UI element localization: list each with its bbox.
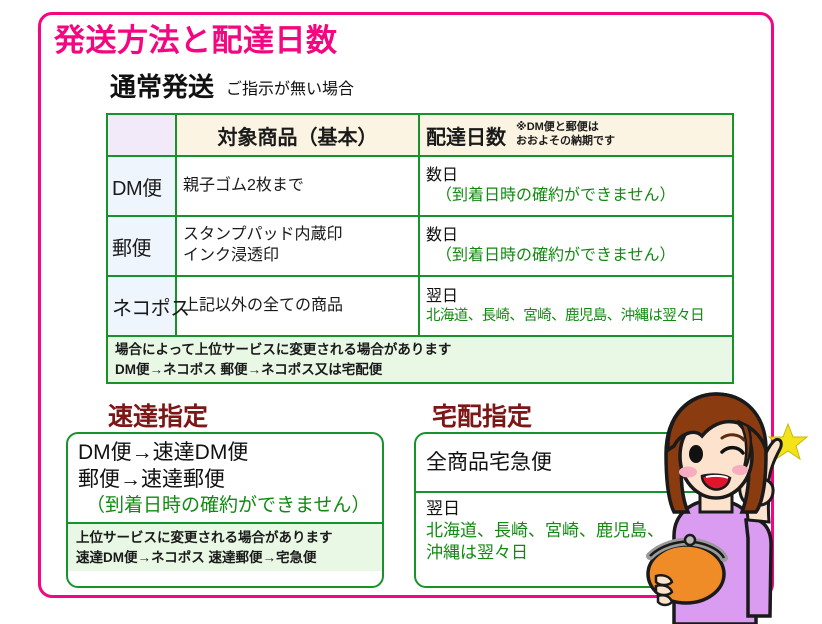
row-days-main: 翌日 — [426, 287, 726, 307]
shipping-methods-table: 対象商品（基本） 配達日数 ※DM便と郵便は おおよその納期です — [106, 113, 734, 384]
row-target-cell: スタンプパッド内蔵印 インク浸透印 — [176, 216, 419, 276]
express-section-panel: DM便→速達DM便 郵便→速達郵便 （到着日時の確約ができません） 上位サービス… — [66, 432, 384, 588]
express-line-1: DM便→速達DM便 — [78, 440, 372, 467]
table-footnote-cell: 場合によって上位サービスに変更される場合があります DM便→ネコポス 郵便→ネコ… — [107, 336, 733, 383]
table-row: 郵便 スタンプパッド内蔵印 インク浸透印 数日 （到着日時の確約ができません） — [107, 216, 733, 276]
express-line-2: 郵便→速達郵便 — [78, 467, 372, 494]
days-footnote-line-1: ※DM便と郵便は — [516, 121, 599, 133]
header-cell-method — [107, 114, 176, 156]
delivery-days-note-line-2: 沖縄は翌々日 — [426, 542, 720, 564]
delivery-panel-top: 全商品宅急便 — [416, 434, 730, 491]
yellow-star-icon — [769, 424, 807, 459]
normal-shipping-heading: 通常発送 — [110, 74, 214, 100]
row-days-cell: 翌日 北海道、長崎、宮崎、鹿児島、沖縄は翌々日 — [419, 276, 733, 336]
row-target-line-1: 親子ゴム2枚まで — [183, 177, 304, 194]
delivery-days-main: 翌日 — [426, 498, 720, 520]
express-panel-top: DM便→速達DM便 郵便→速達郵便 （到着日時の確約ができません） — [68, 434, 382, 522]
delivery-days-note-line-1: 北海道、長崎、宮崎、鹿児島、 — [426, 520, 720, 542]
row-days-cell: 数日 （到着日時の確約ができません） — [419, 216, 733, 276]
row-days-note: （到着日時の確約ができません） — [426, 186, 726, 206]
row-method-label: DM便 — [108, 172, 175, 201]
express-panel-note-block: 上位サービスに変更される場合があります 速達DM便→ネコポス 速達郵便→宅急便 — [68, 524, 382, 571]
row-target-cell: 上記以外の全ての商品 — [176, 276, 419, 336]
delivery-main-line: 全商品宅急便 — [426, 450, 720, 477]
header-cell-days-footnote: ※DM便と郵便は おおよその納期です — [516, 121, 615, 149]
row-method-label: ネコポス — [108, 292, 175, 321]
table-footnote-line-1: 場合によって上位サービスに変更される場合があります — [115, 342, 451, 357]
header-cell-days: 配達日数 ※DM便と郵便は おおよその納期です — [419, 114, 733, 156]
row-target-cell: 親子ゴム2枚まで — [176, 156, 419, 216]
shipping-methods-table-wrapper: 対象商品（基本） 配達日数 ※DM便と郵便は おおよその納期です — [106, 113, 734, 384]
express-green-note: （到着日時の確約ができません） — [78, 494, 372, 518]
row-target-text: 親子ゴム2枚まで — [177, 172, 418, 201]
row-days-text: 数日 （到着日時の確約ができません） — [420, 223, 732, 269]
row-target-line-2: インク浸透印 — [183, 247, 279, 264]
express-note-line-1: 上位サービスに変更される場合があります — [76, 528, 374, 548]
row-days-main: 数日 — [426, 226, 726, 246]
row-days-cell: 数日 （到着日時の確約ができません） — [419, 156, 733, 216]
row-days-note: （到着日時の確約ができません） — [426, 246, 726, 266]
table-footnote-line-2: DM便→ネコポス 郵便→ネコポス又は宅配便 — [115, 362, 382, 377]
row-target-text: 上記以外の全ての商品 — [177, 292, 418, 321]
days-footnote-line-2: おおよその納期です — [516, 135, 615, 147]
table-footnote-row: 場合によって上位サービスに変更される場合があります DM便→ネコポス 郵便→ネコ… — [107, 336, 733, 383]
row-method-cell: ネコポス — [107, 276, 176, 336]
row-days-text: 翌日 北海道、長崎、宮崎、鹿児島、沖縄は翌々日 — [420, 284, 732, 328]
table-footnote-text: 場合によって上位サービスに変更される場合があります DM便→ネコポス 郵便→ネコ… — [108, 337, 732, 382]
row-days-main: 数日 — [426, 166, 726, 186]
table-row: DM便 親子ゴム2枚まで 数日 （到着日時の確約ができません） — [107, 156, 733, 216]
delivery-section-panel: 全商品宅急便 翌日 北海道、長崎、宮崎、鹿児島、 沖縄は翌々日 — [414, 432, 732, 588]
row-days-note: 北海道、長崎、宮崎、鹿児島、沖縄は翌々日 — [426, 307, 726, 325]
delivery-panel-days-block: 翌日 北海道、長崎、宮崎、鹿児島、 沖縄は翌々日 — [416, 493, 730, 569]
normal-shipping-heading-row: 通常発送 ご指示が無い場合 — [110, 74, 354, 100]
table-row: ネコポス 上記以外の全ての商品 翌日 北海道、長崎、宮崎、鹿児島、沖縄は翌々日 — [107, 276, 733, 336]
row-method-cell: DM便 — [107, 156, 176, 216]
header-cell-method-label — [108, 115, 175, 155]
row-days-text: 数日 （到着日時の確約ができません） — [420, 163, 732, 209]
row-target-line-1: スタンプパッド内蔵印 — [183, 226, 343, 243]
express-section-heading: 速達指定 — [108, 397, 208, 433]
row-target-text: スタンプパッド内蔵印 インク浸透印 — [177, 221, 418, 271]
express-note-line-2: 速達DM便→ネコポス 速達郵便→宅急便 — [76, 548, 374, 568]
row-method-label: 郵便 — [108, 232, 175, 261]
header-cell-target-label: 対象商品（基本） — [218, 121, 378, 150]
row-target-line-1: 上記以外の全ての商品 — [183, 297, 343, 314]
header-cell-days-label: 配達日数 — [426, 121, 506, 150]
row-method-cell: 郵便 — [107, 216, 176, 276]
table-header-row: 対象商品（基本） 配達日数 ※DM便と郵便は おおよその納期です — [107, 114, 733, 156]
page-title: 発送方法と配達日数 — [54, 24, 338, 58]
delivery-section-heading: 宅配指定 — [432, 397, 532, 433]
header-cell-target: 対象商品（基本） — [176, 114, 419, 156]
normal-shipping-subnote: ご指示が無い場合 — [226, 82, 354, 100]
